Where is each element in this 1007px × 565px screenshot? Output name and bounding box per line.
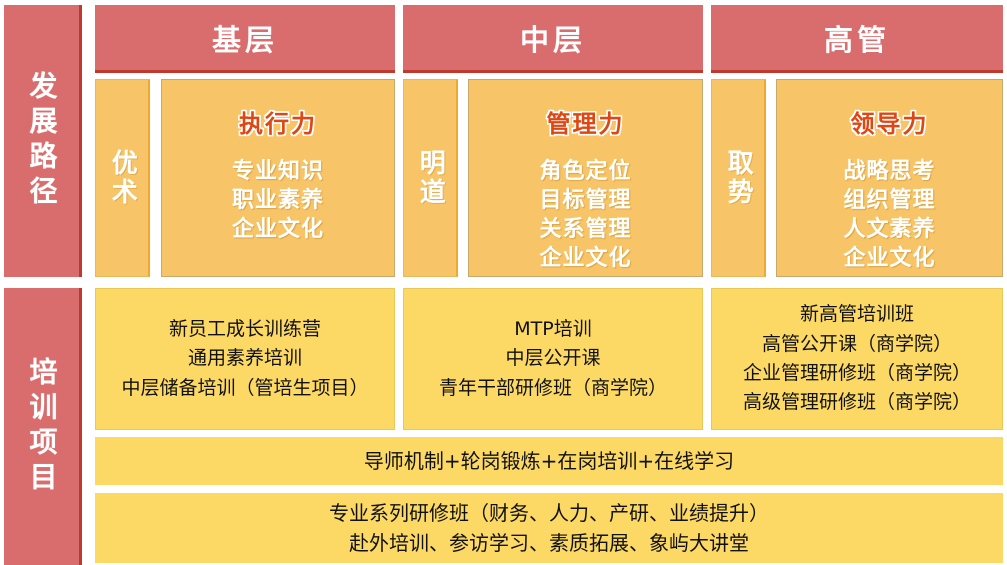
- bar-line: 专业系列研修班（财务、人力、产研、业绩提升）: [329, 498, 769, 528]
- rail-training-program: 培训项目: [4, 288, 82, 565]
- competency-item: 职业素养: [232, 186, 324, 215]
- program-panel-middle-level[interactable]: MTP培训 中层公开课 青年干部研修班（商学院）: [403, 288, 703, 430]
- program-item: 青年干部研修班（商学院）: [439, 374, 667, 403]
- competency-card-leadership[interactable]: 领导力 战略思考 组织管理 人文素养 企业文化: [776, 79, 1003, 277]
- program-item: 通用素养培训: [188, 344, 302, 373]
- competency-item: 人文素养: [843, 215, 935, 244]
- bar-specialist-programs[interactable]: 专业系列研修班（财务、人力、产研、业绩提升） 赴外培训、参访学习、素质拓展、象屿…: [95, 493, 1003, 563]
- competency-item: 组织管理: [843, 186, 935, 215]
- column-header-entry-level[interactable]: 基层: [95, 5, 395, 73]
- column-header-middle-level[interactable]: 中层: [403, 5, 703, 73]
- keyword-strip-executive-level[interactable]: 取势: [711, 79, 766, 277]
- rail-training-program-label: 培训项目: [28, 357, 56, 497]
- program-panel-executive-level[interactable]: 新高管培训班 高管公开课（商学院） 企业管理研修班（商学院） 高级管理研修班（商…: [711, 288, 1003, 430]
- competency-card-execution-title: 执行力: [239, 104, 317, 139]
- competency-item: 专业知识: [232, 157, 324, 186]
- bar-line: 赴外培训、参访学习、素质拓展、象屿大讲堂: [349, 528, 749, 558]
- program-item: 高级管理研修班（商学院）: [743, 388, 971, 417]
- competency-card-management-title: 管理力: [547, 104, 625, 139]
- keyword-strip-entry-level[interactable]: 优术: [95, 79, 150, 277]
- program-item: 高管公开课（商学院）: [762, 330, 952, 359]
- column-header-executive-level[interactable]: 高管: [711, 5, 1003, 73]
- competency-card-management-items: 角色定位 目标管理 关系管理 企业文化: [539, 157, 631, 273]
- program-item: 中层公开课: [505, 344, 600, 373]
- rail-development-path: 发展路径: [4, 5, 82, 277]
- program-panel-entry-level[interactable]: 新员工成长训练营 通用素养培训 中层储备培训（管培生项目）: [95, 288, 395, 430]
- keyword-strip-middle-level[interactable]: 明道: [403, 79, 458, 277]
- competency-card-leadership-title: 领导力: [851, 104, 929, 139]
- program-item: 企业管理研修班（商学院）: [743, 359, 971, 388]
- competency-item: 角色定位: [539, 157, 631, 186]
- competency-card-execution-items: 专业知识 职业素养 企业文化: [232, 157, 324, 244]
- competency-item: 企业文化: [843, 244, 935, 273]
- bar-common-mechanisms[interactable]: 导师机制+轮岗锻炼+在岗培训+在线学习: [95, 437, 1003, 485]
- competency-card-execution[interactable]: 执行力 专业知识 职业素养 企业文化: [161, 79, 395, 277]
- keyword-strip-executive-level-label: 取势: [724, 149, 753, 207]
- competency-item: 战略思考: [843, 157, 935, 186]
- competency-item: 关系管理: [539, 215, 631, 244]
- program-item: 新员工成长训练营: [169, 315, 321, 344]
- program-item: 新高管培训班: [800, 300, 914, 329]
- column-header-middle-level-label: 中层: [520, 17, 586, 59]
- keyword-strip-middle-level-label: 明道: [416, 149, 445, 207]
- column-header-executive-level-label: 高管: [824, 17, 890, 59]
- program-item: 中层储备培训（管培生项目）: [121, 374, 368, 403]
- competency-card-leadership-items: 战略思考 组织管理 人文素养 企业文化: [843, 157, 935, 273]
- competency-item: 目标管理: [539, 186, 631, 215]
- keyword-strip-entry-level-label: 优术: [108, 149, 137, 207]
- column-header-entry-level-label: 基层: [212, 17, 278, 59]
- rail-development-path-label: 发展路径: [28, 71, 56, 211]
- bar-line: 导师机制+轮岗锻炼+在岗培训+在线学习: [364, 446, 734, 476]
- competency-item: 企业文化: [232, 215, 324, 244]
- program-item: MTP培训: [514, 315, 591, 344]
- competency-card-management[interactable]: 管理力 角色定位 目标管理 关系管理 企业文化: [468, 79, 703, 277]
- development-path-training-diagram: 发展路径 培训项目 基层 中层 高管 优术 明道 取势 执行力 专业知识 职业素…: [0, 0, 1007, 565]
- competency-item: 企业文化: [539, 244, 631, 273]
